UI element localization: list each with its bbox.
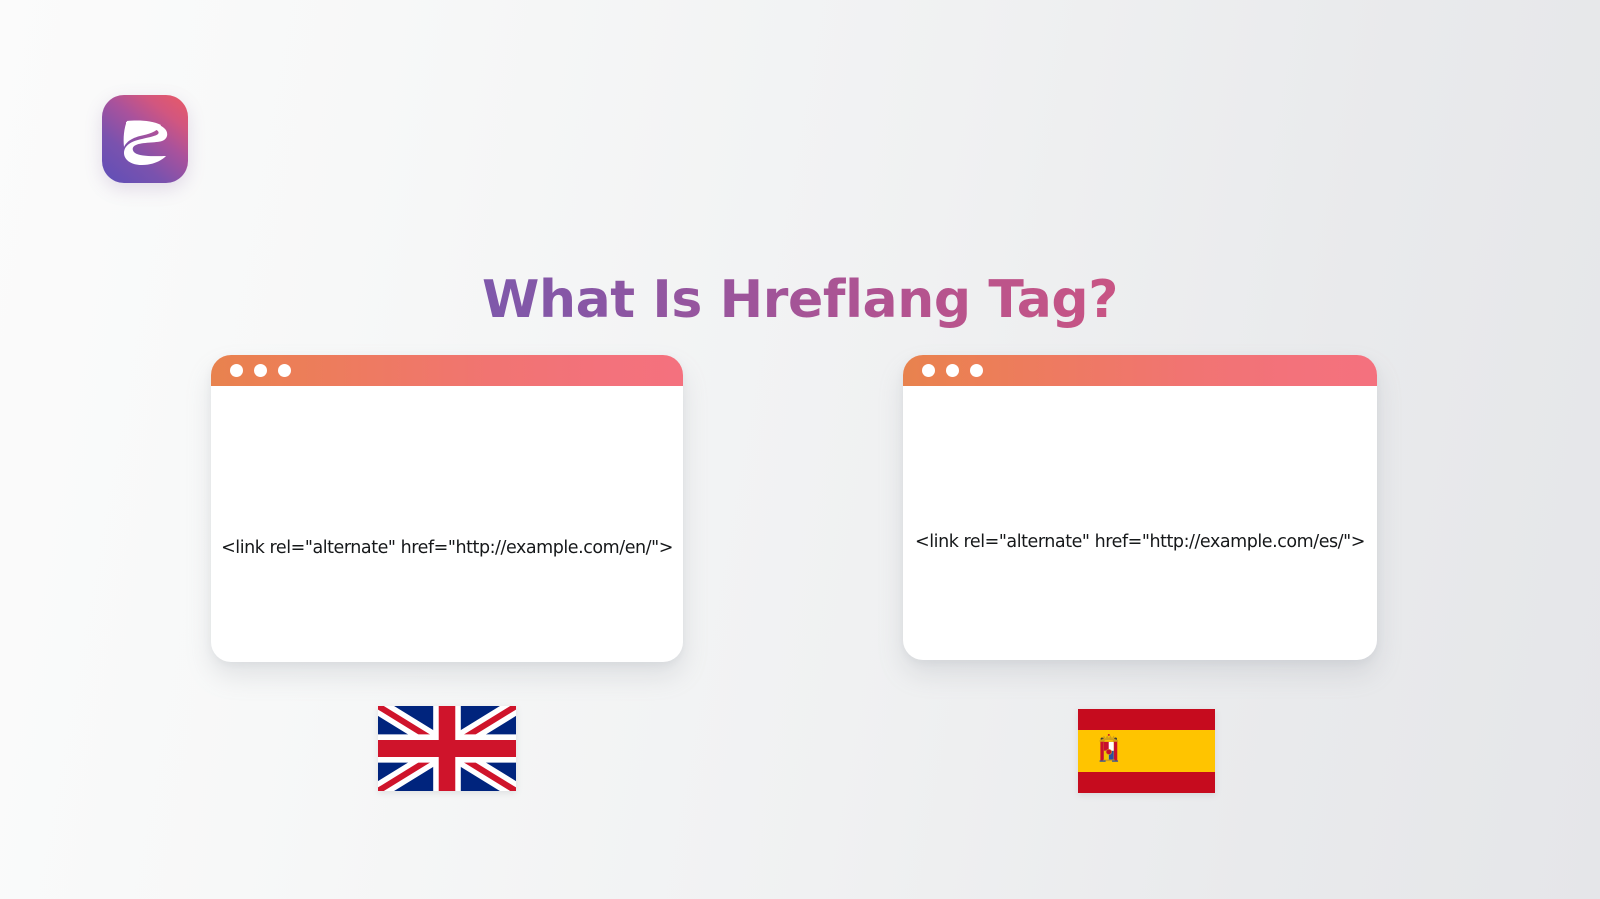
- united-kingdom-flag-icon: [378, 706, 516, 791]
- minimize-dot-icon[interactable]: [946, 364, 959, 377]
- close-dot-icon[interactable]: [230, 364, 243, 377]
- maximize-dot-icon[interactable]: [278, 364, 291, 377]
- slide-canvas: What Is Hreflang Tag? <link rel="alterna…: [0, 0, 1600, 899]
- spain-flag-icon: [1078, 709, 1215, 793]
- browser-body-en: <link rel="alternate" href="http://examp…: [211, 386, 683, 662]
- maximize-dot-icon[interactable]: [970, 364, 983, 377]
- page-title: What Is Hreflang Tag?: [0, 267, 1600, 333]
- hreflang-code-es: <link rel="alternate" href="http://examp…: [915, 532, 1365, 552]
- minimize-dot-icon[interactable]: [254, 364, 267, 377]
- hreflang-code-en: <link rel="alternate" href="http://examp…: [221, 538, 673, 558]
- browser-body-es: <link rel="alternate" href="http://examp…: [903, 386, 1377, 660]
- browser-titlebar-en: [211, 355, 683, 386]
- close-dot-icon[interactable]: [922, 364, 935, 377]
- stylized-s-logo-icon: [102, 95, 188, 183]
- brand-logo[interactable]: [102, 95, 188, 183]
- browser-titlebar-es: [903, 355, 1377, 386]
- browser-window-es[interactable]: <link rel="alternate" href="http://examp…: [903, 355, 1377, 660]
- browser-window-en[interactable]: <link rel="alternate" href="http://examp…: [211, 355, 683, 662]
